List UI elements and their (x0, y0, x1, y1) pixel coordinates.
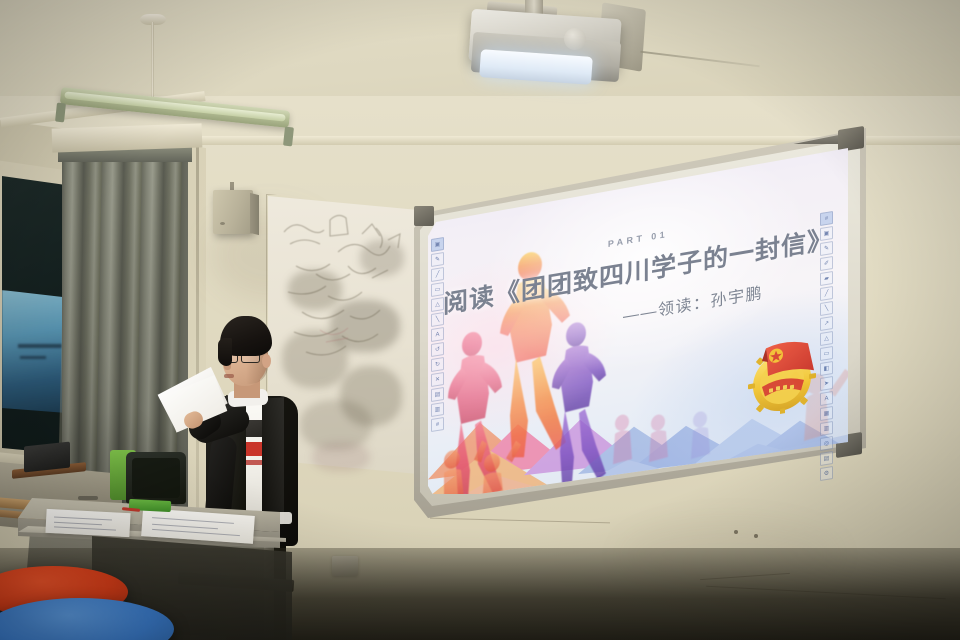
arrow-icon[interactable]: ↗ (820, 316, 833, 331)
speaker-led (220, 222, 225, 225)
pen-icon[interactable]: ✎ (431, 252, 444, 267)
window-poster-text (18, 344, 62, 348)
pointer-icon[interactable]: ➤ (820, 376, 833, 391)
wall-screw-hole (734, 530, 738, 534)
eraser-icon[interactable]: ▭ (431, 282, 444, 297)
page-icon[interactable]: ▤ (820, 451, 833, 466)
wall-speaker (213, 190, 253, 234)
communist-youth-league-emblem (740, 329, 824, 421)
settings-icon[interactable]: ⚙ (820, 466, 833, 481)
brush-icon[interactable]: ╱ (820, 286, 833, 301)
shape-icon[interactable]: △ (820, 331, 833, 346)
smartboard-corner-bracket (414, 206, 434, 226)
save-icon[interactable]: ▤ (431, 387, 444, 402)
text-icon[interactable]: A (820, 391, 833, 406)
whiteboard-smudge (312, 442, 370, 472)
menu-icon[interactable]: ≡ (820, 211, 833, 226)
closed-laptop[interactable] (24, 442, 70, 473)
line-icon[interactable]: ╲ (820, 301, 833, 316)
grid-icon[interactable]: ▦ (820, 406, 833, 421)
clear-icon[interactable]: ✕ (431, 372, 444, 387)
page-icon[interactable]: ▥ (431, 402, 444, 417)
image-icon[interactable]: ▥ (820, 421, 833, 436)
pen-thin-icon[interactable]: ✎ (820, 241, 833, 256)
shape-icon[interactable]: △ (431, 297, 444, 312)
text-icon[interactable]: A (431, 327, 444, 342)
menu-icon[interactable]: ≡ (431, 417, 444, 432)
eraser-icon[interactable]: ▭ (820, 346, 833, 361)
right-tool-palette[interactable]: ≡ ▣ ✎ ✐ ▰ ╱ ╲ ↗ △ ▭ ◧ ➤ A ▦ ▥ ◎ ▤ ⚙ (820, 211, 833, 481)
marker-icon[interactable]: ▰ (820, 271, 833, 286)
undo-icon[interactable]: ↺ (431, 342, 444, 357)
person-mouth (224, 374, 234, 378)
classroom-scene: PART 01 阅读《团团致四川学子的一封信》 ——领读：孙宇鹏 (0, 0, 960, 640)
chair-backrest-inner (132, 458, 180, 498)
fill-icon[interactable]: ◧ (820, 361, 833, 376)
redo-icon[interactable]: ↻ (431, 357, 444, 372)
speaker-side (250, 193, 259, 235)
person-ear (262, 354, 271, 368)
lamp-rod (151, 22, 154, 102)
window-poster-text (20, 356, 46, 359)
wall-screw-hole (754, 534, 758, 538)
smartboard-corner-bracket (838, 126, 864, 152)
zoom-icon[interactable]: ◎ (820, 436, 833, 451)
left-tool-palette[interactable]: ▣ ✎ ╱ ▭ △ ╲ A ↺ ↻ ✕ ▤ ▥ ≡ (431, 237, 444, 432)
select-icon[interactable]: ▣ (431, 237, 444, 252)
select-icon[interactable]: ▣ (820, 226, 833, 241)
line-icon[interactable]: ╲ (431, 312, 444, 327)
person-hair-side (218, 338, 232, 366)
pen-thick-icon[interactable]: ✐ (820, 256, 833, 271)
highlighter-icon[interactable]: ╱ (431, 267, 444, 282)
